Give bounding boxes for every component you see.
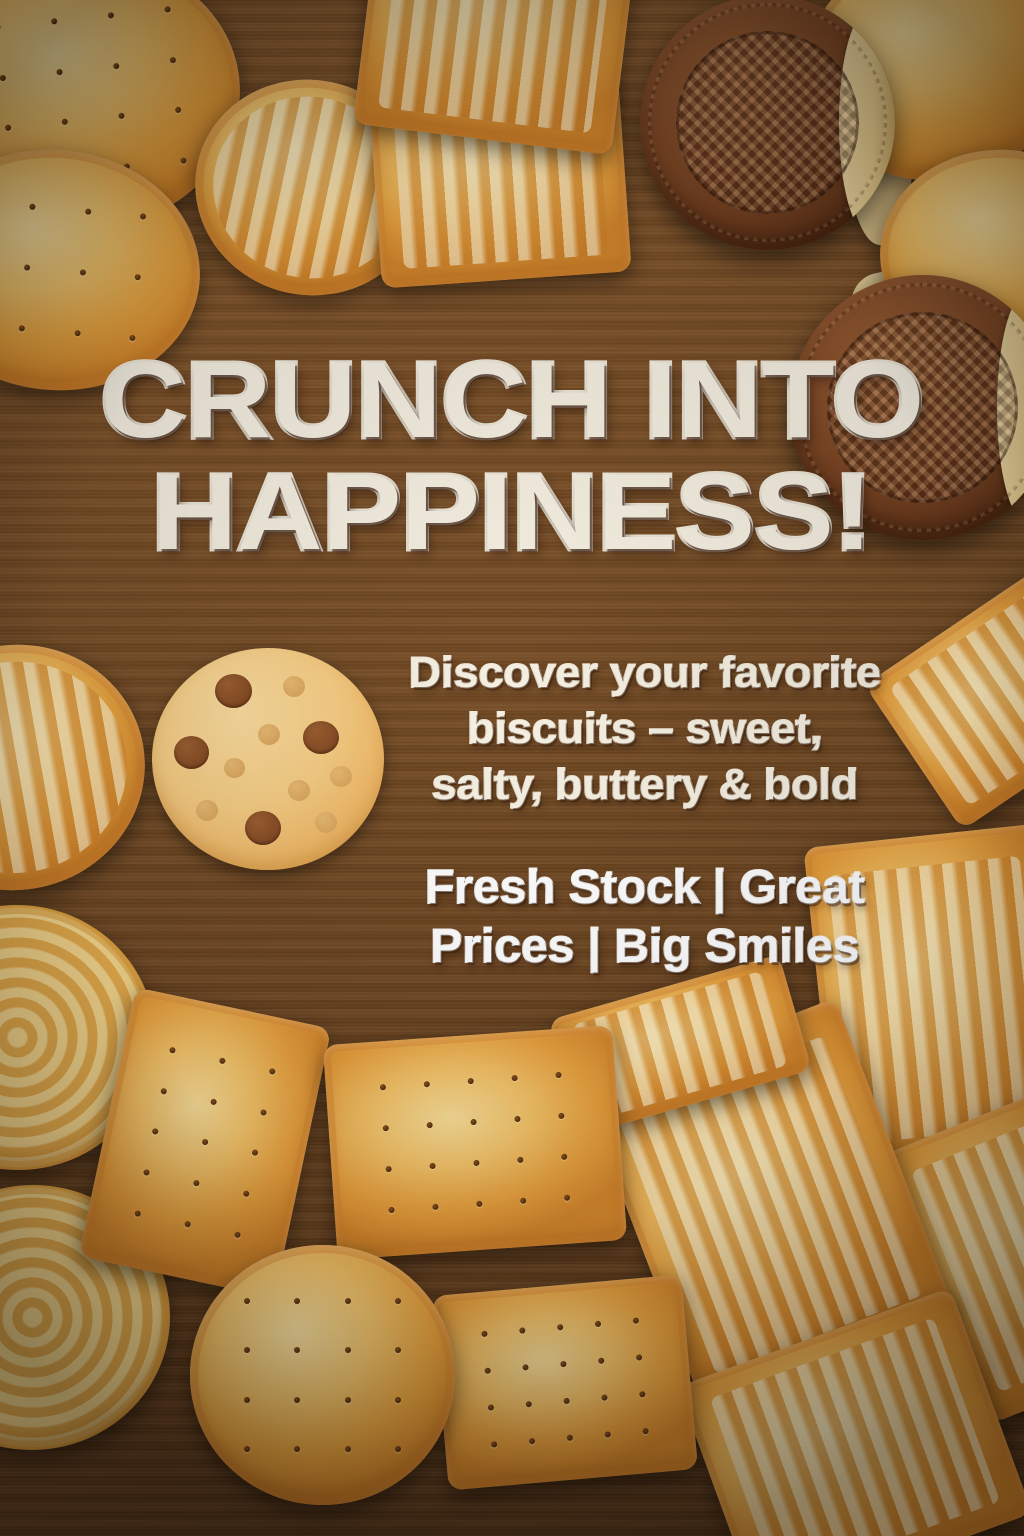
cookie-chip-dark-3 [303, 721, 339, 754]
cookie-chip-light-4 [330, 766, 352, 787]
poster-subtitle: Discover your favorite biscuits – sweet,… [401, 646, 890, 814]
headline-line-2: HAPPINESS! [0, 460, 1024, 564]
chocolate-chip-cookie-icon [152, 648, 384, 870]
cookie-chip-light-3 [224, 758, 245, 778]
cookie-chip-dark-1 [215, 674, 252, 708]
subtitle-line-3: salty, buttery & bold [432, 761, 859, 809]
cookie-chip-dark-4 [245, 811, 281, 845]
cookie-chip-light-7 [315, 812, 337, 833]
cookie-chip-dark-2 [174, 736, 209, 769]
cookie-chip-light-2 [258, 724, 280, 745]
poster-tagline: Fresh Stock | Great Prices | Big Smiles [405, 857, 884, 975]
cookie-chip-light-6 [196, 800, 218, 821]
subtitle-line-1: Discover your favorite [409, 649, 881, 697]
poster-text-layer: CRUNCH INTO HAPPINESS! Discover your fav… [0, 0, 1024, 1536]
tagline-line-2: Prices | Big Smiles [430, 919, 859, 972]
cookie-chip-light-5 [288, 780, 310, 801]
cookie-chip-light-1 [283, 676, 305, 697]
tagline-line-1: Fresh Stock | Great [425, 860, 865, 913]
biscuit-promo-poster: CRUNCH INTO HAPPINESS! Discover your fav… [0, 0, 1024, 1536]
subtitle-line-2: biscuits – sweet, [467, 705, 822, 753]
headline-line-1: CRUNCH INTO [0, 348, 1024, 452]
poster-headline: CRUNCH INTO HAPPINESS! [0, 348, 1024, 563]
